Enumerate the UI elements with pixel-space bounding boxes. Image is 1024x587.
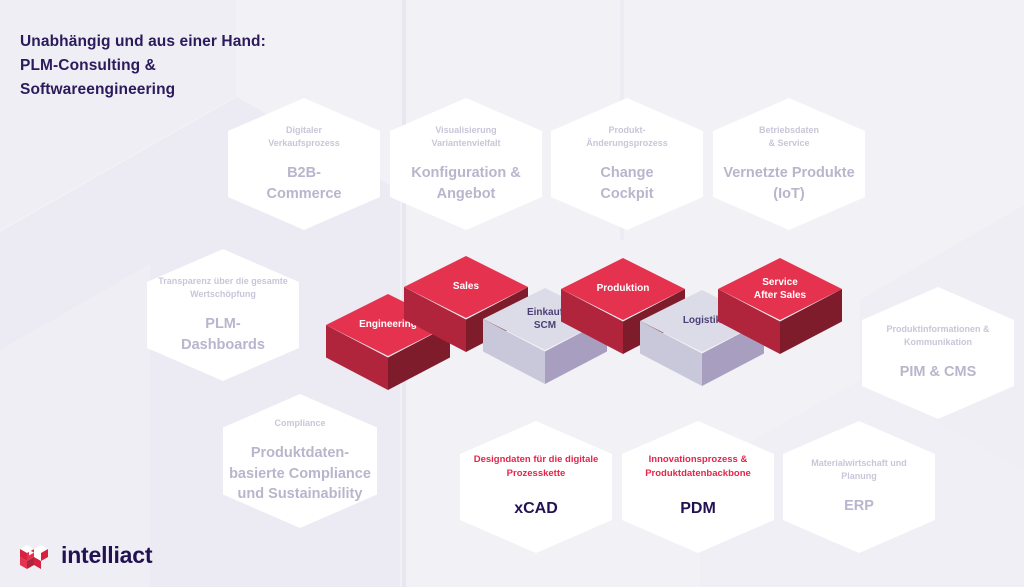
hexagon-title: ERP (844, 496, 874, 517)
hexagon-title: Change Cockpit (600, 163, 653, 204)
hexagon-title: Vernetzte Produkte (IoT) (723, 163, 854, 204)
hexagon-subtitle: Produkt- Änderungsprozess (586, 124, 668, 150)
hexagon-subtitle: Transparenz über die gesamte Wertschöpfu… (158, 275, 288, 301)
hexagon-subtitle: Betriebsdaten & Service (759, 124, 819, 150)
hexagon-subtitle: Designdaten für die digitale Prozesskett… (474, 453, 599, 481)
hexagon-title: xCAD (514, 498, 558, 521)
hexagon-title: PIM & CMS (900, 362, 977, 383)
hexagon-subtitle: Innovationsprozess & Produktdatenbackbon… (645, 453, 751, 481)
block-service-after-sales[interactable]: Service After Sales (718, 258, 842, 354)
brand-wordmark: intelliact (61, 542, 152, 569)
hexagon-title: PLM- Dashboards (181, 314, 265, 355)
hexagon-subtitle: Produktinformationen & Kommunikation (887, 323, 990, 349)
brand-logo: intelliact (18, 542, 152, 569)
hexagon-title: B2B- Commerce (267, 163, 342, 204)
hexagon-subtitle: Materialwirtschaft und Planung (811, 457, 907, 483)
hexagon-title: PDM (680, 498, 716, 521)
page-title: Unabhängig und aus einer Hand: PLM-Consu… (20, 30, 266, 102)
isometric-cube-logo-icon (18, 543, 48, 569)
hexagon-title: Konfiguration & Angebot (411, 163, 521, 204)
hexagon-title: Produktdaten- basierte Compliance und Su… (229, 443, 371, 505)
hexagon-subtitle: Compliance (274, 417, 325, 430)
hexagon-subtitle: Digitaler Verkaufsprozess (268, 124, 340, 150)
hexagon-subtitle: Visualisierung Variantenvielfalt (431, 124, 500, 150)
